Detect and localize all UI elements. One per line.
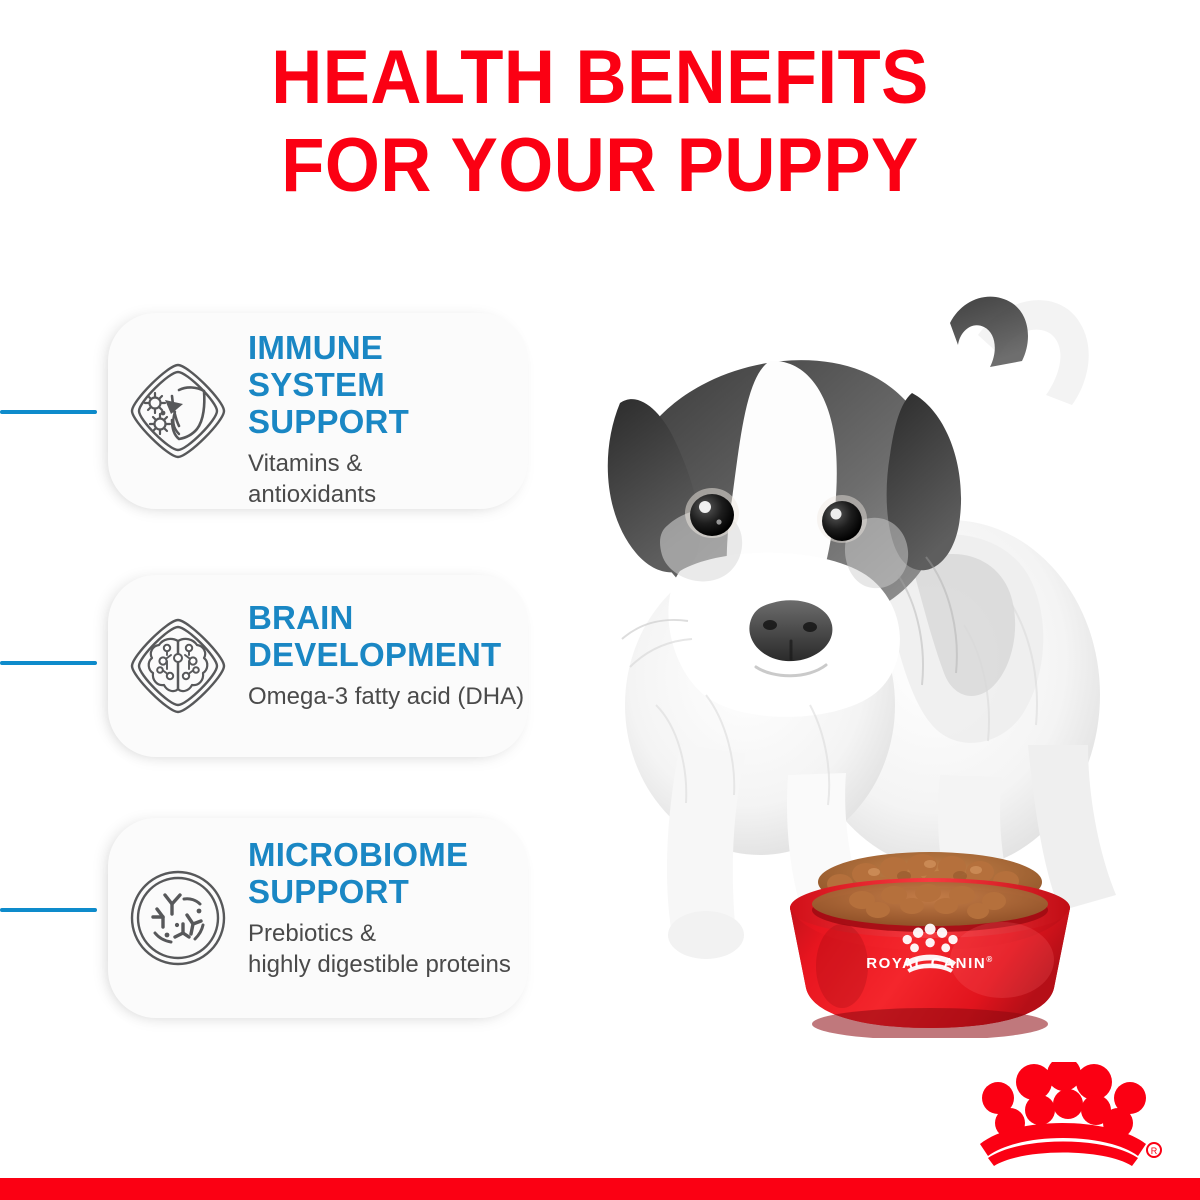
benefit-subtitle: Omega-3 fatty acid (DHA) — [248, 681, 524, 712]
petri-dish-bacteria-icon — [108, 818, 248, 1018]
connector-line-immune — [0, 410, 97, 414]
benefit-heading: MICROBIOME SUPPORT — [248, 836, 511, 910]
title-line-1: HEALTH BENEFITS — [42, 34, 1158, 122]
shield-germs-icon — [108, 313, 248, 509]
connector-line-brain — [0, 661, 97, 665]
benefit-subtitle: Vitamins & antioxidants — [248, 448, 528, 510]
royal-canin-food-bowl: ROYAL CANIN® — [770, 838, 1090, 1038]
benefit-card-immune-system-support[interactable]: IMMUNE SYSTEM SUPPORT Vitamins & antioxi… — [108, 313, 528, 509]
benefit-text-brain: BRAIN DEVELOPMENT Omega-3 fatty acid (DH… — [248, 575, 524, 712]
benefit-heading: IMMUNE SYSTEM SUPPORT — [248, 329, 528, 440]
registered-mark-icon: R — [1151, 1146, 1158, 1156]
benefit-text-immune: IMMUNE SYSTEM SUPPORT Vitamins & antioxi… — [248, 313, 528, 510]
brain-icon — [108, 575, 248, 757]
benefit-card-brain-development[interactable]: BRAIN DEVELOPMENT Omega-3 fatty acid (DH… — [108, 575, 528, 757]
bottom-red-bar — [0, 1178, 1200, 1200]
title-line-2: FOR YOUR PUPPY — [42, 122, 1158, 210]
infographic-canvas: HEALTH BENEFITS FOR YOUR PUPPY — [0, 0, 1200, 1200]
benefit-card-microbiome-support[interactable]: MICROBIOME SUPPORT Prebiotics & highly d… — [108, 818, 528, 1018]
page-title: HEALTH BENEFITS FOR YOUR PUPPY — [0, 34, 1200, 210]
benefit-subtitle: Prebiotics & highly digestible proteins — [248, 918, 511, 980]
royal-canin-crown-logo: R — [958, 1062, 1168, 1172]
connector-line-microbiome — [0, 908, 97, 912]
benefit-heading: BRAIN DEVELOPMENT — [248, 599, 524, 673]
benefit-text-microbiome: MICROBIOME SUPPORT Prebiotics & highly d… — [248, 818, 511, 980]
